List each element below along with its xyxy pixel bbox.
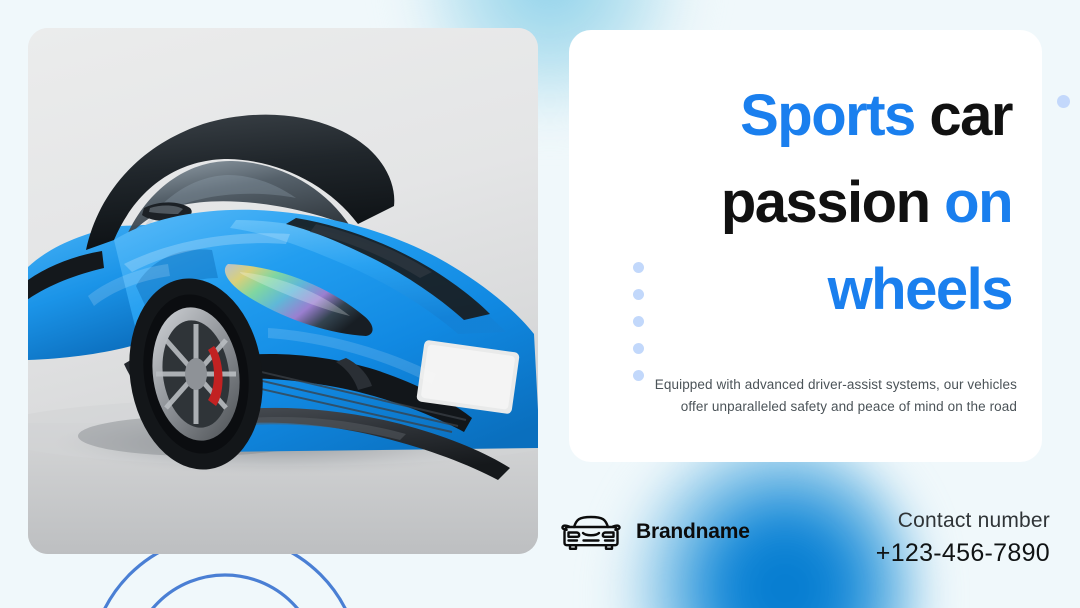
decorative-dot-column xyxy=(633,262,644,381)
brand-name: Brandname xyxy=(636,520,750,544)
content-card: Sports car passion on wheels Equipped wi… xyxy=(569,30,1042,462)
bullet-dot xyxy=(633,262,644,273)
hero-car-image xyxy=(28,28,538,554)
car-illustration xyxy=(28,28,538,554)
contact-label: Contact number xyxy=(876,505,1050,537)
bullet-dot xyxy=(633,370,644,381)
headline-word-passion: passion xyxy=(721,170,944,235)
poster-canvas: Sports car passion on wheels Equipped wi… xyxy=(0,0,1080,608)
page-title: Sports car passion on wheels xyxy=(599,72,1012,333)
headline-word-wheels: wheels xyxy=(828,257,1012,322)
contact-block: Contact number +123-456-7890 xyxy=(876,505,1050,570)
headline-word-on: on xyxy=(944,170,1012,235)
contact-number[interactable]: +123-456-7890 xyxy=(876,537,1050,570)
headline-word-car: car xyxy=(915,83,1012,148)
decorative-edge-dot xyxy=(1057,95,1070,108)
headline-word-sports: Sports xyxy=(740,83,915,148)
car-front-icon xyxy=(560,512,622,552)
brand-lockup: Brandname xyxy=(560,512,750,552)
bullet-dot xyxy=(633,316,644,327)
bullet-dot xyxy=(633,343,644,354)
bullet-dot xyxy=(633,289,644,300)
description-text: Equipped with advanced driver-assist sys… xyxy=(653,374,1017,418)
